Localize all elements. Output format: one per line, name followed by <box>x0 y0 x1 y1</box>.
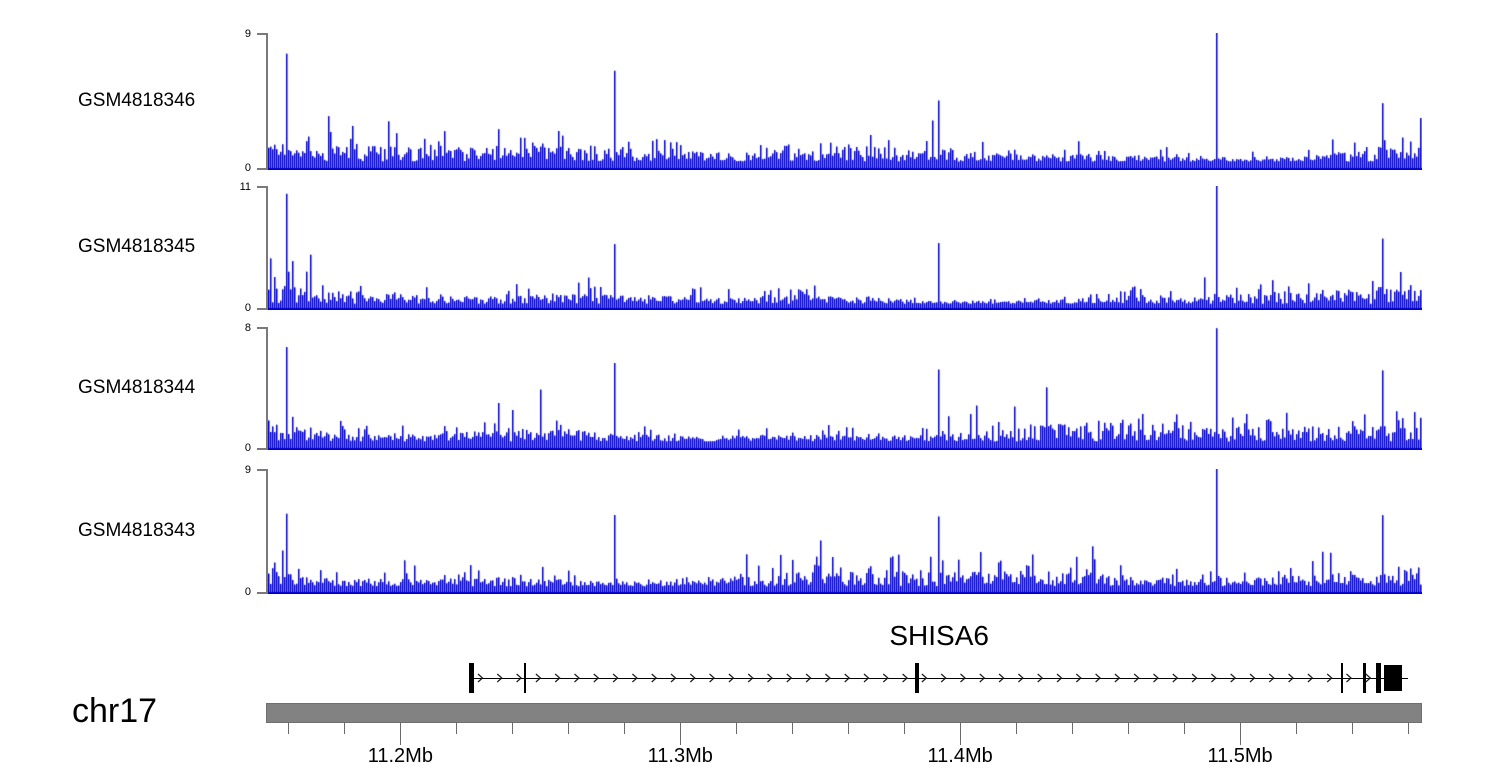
track-plot-area: 90 <box>266 33 1422 170</box>
axis-minor-tick <box>1352 723 1353 734</box>
y-axis-max-label: 11 <box>240 182 251 193</box>
axis-major-tick <box>680 723 681 745</box>
y-axis-max-label: 8 <box>245 323 251 334</box>
y-axis-tick-min: 0 <box>257 308 268 310</box>
y-axis-tick-min: 0 <box>257 448 268 450</box>
track-plot-area: 110 <box>266 186 1422 310</box>
axis-minor-tick <box>736 723 737 734</box>
axis-major-tick <box>400 723 401 745</box>
gene-exon <box>469 663 474 693</box>
y-axis-min-label: 0 <box>245 303 251 314</box>
axis-minor-tick <box>904 723 905 734</box>
axis-major-tick <box>1240 723 1241 745</box>
axis-minor-tick <box>1184 723 1185 734</box>
axis-minor-tick <box>568 723 569 734</box>
axis-tick-label: 11.3Mb <box>610 745 750 768</box>
axis-minor-tick <box>624 723 625 734</box>
y-axis-tick-max: 9 <box>257 33 268 35</box>
gene-exon <box>915 663 919 693</box>
track-plot-area: 90 <box>266 469 1422 594</box>
coverage-histogram <box>268 469 1422 594</box>
axis-tick-label: 11.2Mb <box>330 745 470 768</box>
axis-minor-tick <box>1296 723 1297 734</box>
axis-major-tick <box>960 723 961 745</box>
axis-tick-label: 11.5Mb <box>1170 745 1310 768</box>
axis-minor-tick <box>456 723 457 734</box>
track-label: GSM4818343 <box>78 520 195 542</box>
axis-minor-tick <box>1072 723 1073 734</box>
y-axis-min-label: 0 <box>245 163 251 174</box>
axis-minor-tick <box>344 723 345 734</box>
y-axis-tick-max: 9 <box>257 469 268 471</box>
y-axis-max-label: 9 <box>245 29 251 40</box>
strand-direction-arrows <box>470 670 1408 686</box>
axis-tick-label: 11.4Mb <box>890 745 1030 768</box>
gene-exon <box>1341 663 1343 693</box>
gene-exon <box>1376 663 1381 693</box>
coverage-histogram <box>268 327 1422 450</box>
axis-minor-tick <box>1016 723 1017 734</box>
axis-minor-tick <box>792 723 793 734</box>
y-axis-tick-min: 0 <box>257 592 268 594</box>
axis-minor-tick <box>512 723 513 734</box>
y-axis-max-label: 9 <box>245 465 251 476</box>
track-label: GSM4818346 <box>78 90 195 112</box>
gene-exon <box>1384 665 1402 691</box>
y-axis-min-label: 0 <box>245 443 251 454</box>
y-axis-tick-max: 11 <box>257 186 268 188</box>
gene-name-label: SHISA6 <box>470 620 1408 652</box>
track-label: GSM4818344 <box>78 377 195 399</box>
y-axis-tick-min: 0 <box>257 168 268 170</box>
gene-exon <box>1363 663 1366 693</box>
gene-exon <box>524 663 527 693</box>
track-plot-area: 80 <box>266 327 1422 450</box>
chromosome-label: chr17 <box>72 692 157 731</box>
y-axis-tick-max: 8 <box>257 327 268 329</box>
ideogram-bar[interactable] <box>266 703 1422 723</box>
coverage-histogram <box>268 33 1422 170</box>
y-axis-min-label: 0 <box>245 587 251 598</box>
track-label: GSM4818345 <box>78 236 195 258</box>
coverage-histogram <box>268 186 1422 310</box>
axis-minor-tick <box>1128 723 1129 734</box>
axis-minor-tick <box>1408 723 1409 734</box>
axis-minor-tick <box>848 723 849 734</box>
axis-minor-tick <box>288 723 289 734</box>
